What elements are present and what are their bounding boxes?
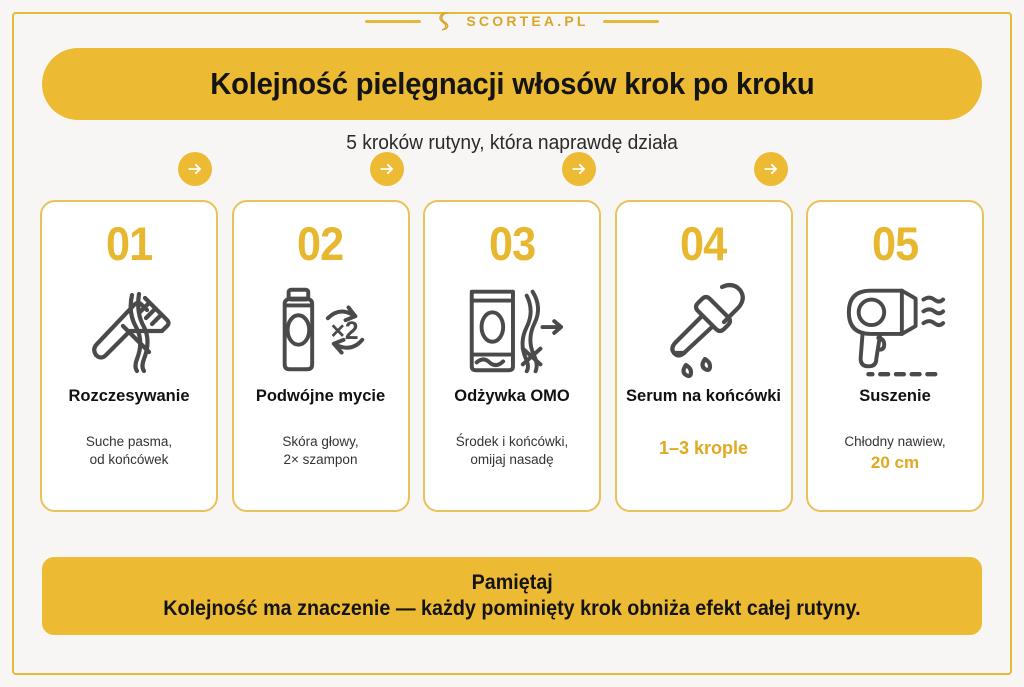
step-number: 01: [106, 220, 152, 267]
brand-rule-left: [365, 20, 421, 23]
steps-row: 01 Rozczesywanie Suche pasma, od końcówe…: [40, 200, 984, 512]
arrow-right-icon: [569, 159, 589, 179]
step-description: Skóra głowy, 2× szampon: [282, 433, 358, 468]
step-number: 04: [680, 220, 726, 267]
step-card-4: 04 Serum na końcówki 1–3 krople: [615, 200, 793, 512]
step-card-5: 05 Suszenie Chłodny nawiew, 20 cm: [806, 200, 984, 512]
step-number: 02: [297, 220, 343, 267]
connector-arrow-2: [370, 152, 404, 186]
step-highlight: 20 cm: [844, 452, 945, 474]
step-highlight: 1–3 krople: [659, 437, 748, 460]
conditioner-tube-mid-lengths-icon: [433, 273, 591, 385]
comb-with-hair-strand-icon: [50, 273, 208, 385]
step-title: Podwójne mycie: [256, 387, 385, 427]
step-number: 03: [489, 220, 535, 267]
step-description: Suche pasma, od końcówek: [86, 433, 172, 468]
connector-arrow-3: [562, 152, 596, 186]
step-desc-line-2: omijaj nasadę: [470, 452, 553, 467]
page-subtitle: 5 kroków rutyny, która naprawdę działa: [20, 132, 1003, 155]
shampoo-bottle-times-two-icon: ×2: [242, 273, 400, 385]
scortea-s-monogram-icon: [435, 10, 457, 32]
step-description: Środek i końcówki, omijaj nasadę: [456, 433, 569, 468]
connector-arrow-1: [178, 152, 212, 186]
footer-text: Kolejność ma znaczenie — każdy pominięty…: [163, 597, 860, 621]
step-card-3: 03 Odżywka OMO Środek i ko: [423, 200, 601, 512]
serum-dropper-pipette-icon: [625, 273, 783, 385]
step-desc-line-1: Chłodny nawiew,: [844, 434, 945, 449]
footer-heading: Pamiętaj: [471, 571, 552, 595]
brand-header: SCORTEA.PL: [0, 10, 1024, 32]
arrow-right-icon: [185, 159, 205, 179]
step-title: Rozczesywanie: [68, 387, 189, 427]
step-description: Chłodny nawiew, 20 cm: [844, 433, 945, 474]
brand-rule-right: [603, 20, 659, 23]
arrow-right-icon: [377, 159, 397, 179]
page-title: Kolejność pielęgnacji włosów krok po kro…: [210, 66, 814, 102]
connector-arrow-4: [754, 152, 788, 186]
step-card-1: 01 Rozczesywanie Suche pasma, od końcówe…: [40, 200, 218, 512]
footer-banner: Pamiętaj Kolejność ma znaczenie — każdy …: [42, 557, 982, 635]
step-number: 05: [872, 220, 918, 267]
step-desc-line-1: Skóra głowy,: [282, 434, 358, 449]
step-title: Serum na końcówki: [626, 387, 781, 427]
step-desc-line-1: Suche pasma,: [86, 434, 172, 449]
title-banner: Kolejność pielęgnacji włosów krok po kro…: [42, 48, 982, 120]
arrow-right-icon: [761, 159, 781, 179]
step-title: Suszenie: [859, 387, 931, 427]
step-desc-line-1: Środek i końcówki,: [456, 434, 569, 449]
brand-name: SCORTEA.PL: [466, 13, 588, 29]
step-title: Odżywka OMO: [454, 387, 570, 427]
svg-text:×2: ×2: [330, 318, 358, 345]
brand-logo: SCORTEA.PL: [435, 10, 588, 32]
step-desc-line-2: 2× szampon: [284, 452, 358, 467]
step-desc-line-2: od końcówek: [90, 452, 169, 467]
infographic-root: SCORTEA.PL Kolejność pielęgnacji włosów …: [0, 0, 1024, 687]
hair-dryer-cool-air-icon: [816, 273, 974, 385]
step-card-2: 02 ×2 Podwójne mycie Skóra głowy, 2× sza…: [232, 200, 410, 512]
